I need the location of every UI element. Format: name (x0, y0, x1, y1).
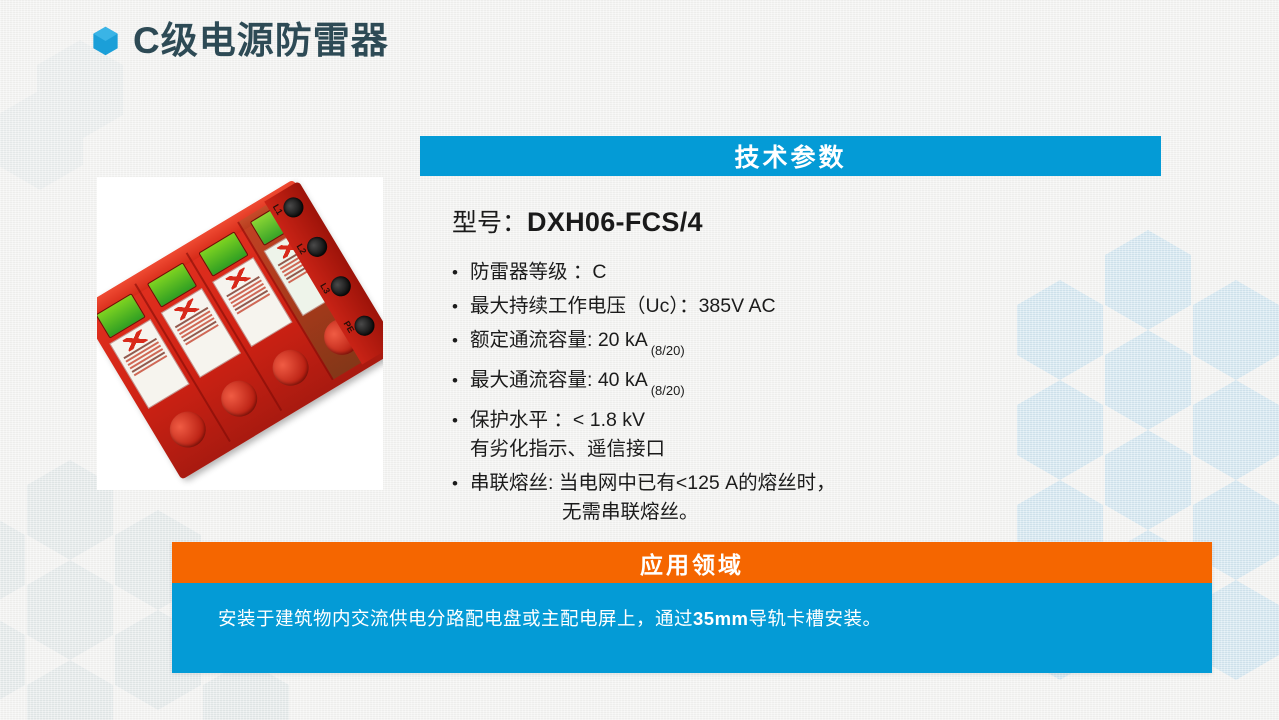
hexagon-icon (92, 26, 119, 56)
bullet-icon: • (452, 258, 470, 287)
application-text-after: 导轨卡槽安装。 (749, 608, 882, 629)
spec-text-max-current: 最大通流容量: 40 kA (470, 369, 648, 391)
spec-item-max-current: • 最大通流容量: 40 kA(8/20) (452, 366, 1152, 401)
spec-sub-nominal-current: (8/20) (651, 343, 685, 358)
terminal-screw-pe (351, 311, 378, 338)
terminal-screw-l3 (327, 272, 354, 299)
spec-sub-max-current: (8/20) (651, 383, 685, 398)
spec-text-protection-level: 保护水平 ：< 1.8 kV (470, 409, 645, 431)
brand-logo-icon (174, 298, 200, 320)
application-body: 安装于建筑物内交流供电分路配电盘或主配电屏上，通过35mm导轨卡槽安装。 (172, 583, 1212, 673)
page-title-text: C级电源防雷器 (133, 22, 389, 59)
application-header-bar: 应用领域 (172, 542, 1212, 583)
tech-params-header-bar: 技术参数 (420, 136, 1161, 176)
bullet-icon: • (452, 292, 470, 321)
spd-module-knob-l2 (214, 373, 263, 422)
brand-logo-icon (225, 267, 251, 289)
spec-item-protection-level: • 保护水平 ：< 1.8 kV 有劣化指示、遥信接口 (452, 406, 1152, 464)
spec-text-nominal-current: 额定通流容量: 20 kA (470, 329, 648, 351)
spd-body: L1 L2 L3 PE (97, 179, 383, 479)
bullet-icon: • (452, 326, 470, 355)
application-text-bold: 35mm (693, 608, 748, 629)
product-image: L1 L2 L3 PE (97, 177, 383, 490)
spec-item-series-fuse: • 串联熔丝: 当电网中已有<125 A的熔丝时， 无需串联熔丝。 (452, 469, 1152, 527)
spec-text-grade: 防雷器等级 ：C (470, 261, 607, 283)
model-line: 型号：DXH06-FCS/4 (452, 203, 703, 239)
spd-module-knob-l1 (163, 404, 212, 453)
spec-text-max-voltage: 最大持续工作电压（Uc）：385V AC (470, 295, 776, 317)
tech-spec-list: • 防雷器等级 ：C • 最大持续工作电压（Uc）：385V AC • 额定通流… (452, 258, 1152, 532)
tech-params-header-title: 技术参数 (734, 138, 846, 174)
spec-item-nominal-current: • 额定通流容量: 20 kA(8/20) (452, 326, 1152, 361)
spd-module-knob-l3 (266, 343, 315, 392)
application-panel: 应用领域 安装于建筑物内交流供电分路配电盘或主配电屏上，通过35mm导轨卡槽安装… (172, 542, 1212, 673)
application-description: 安装于建筑物内交流供电分路配电盘或主配电屏上，通过35mm导轨卡槽安装。 (218, 605, 882, 631)
spec-item-grade: • 防雷器等级 ：C (452, 258, 1152, 287)
bullet-icon: • (452, 366, 470, 395)
spec-text-series-fuse: 串联熔丝: 当电网中已有<125 A的熔丝时， (470, 472, 836, 494)
application-header-title: 应用领域 (640, 546, 744, 580)
brand-logo-icon (123, 329, 149, 351)
spec-text-series-fuse-line2: 无需串联熔丝。 (470, 498, 1152, 527)
product-image-canvas: L1 L2 L3 PE (97, 177, 383, 490)
model-value: DXH06-FCS/4 (527, 207, 703, 237)
terminal-screw-l1 (280, 193, 307, 220)
spd-device-illustration: L1 L2 L3 PE (97, 179, 383, 488)
bullet-icon: • (452, 469, 470, 498)
slide-canvas: C级电源防雷器 (0, 0, 1279, 720)
application-text-before: 安装于建筑物内交流供电分路配电盘或主配电屏上，通过 (218, 608, 693, 629)
bullet-icon: • (452, 406, 470, 435)
terminal-screw-l2 (303, 233, 330, 260)
spec-text-protection-level-line2: 有劣化指示、遥信接口 (470, 435, 1152, 464)
spec-item-max-voltage: • 最大持续工作电压（Uc）：385V AC (452, 292, 1152, 321)
model-label: 型号： (452, 209, 527, 237)
page-title: C级电源防雷器 (92, 22, 389, 59)
